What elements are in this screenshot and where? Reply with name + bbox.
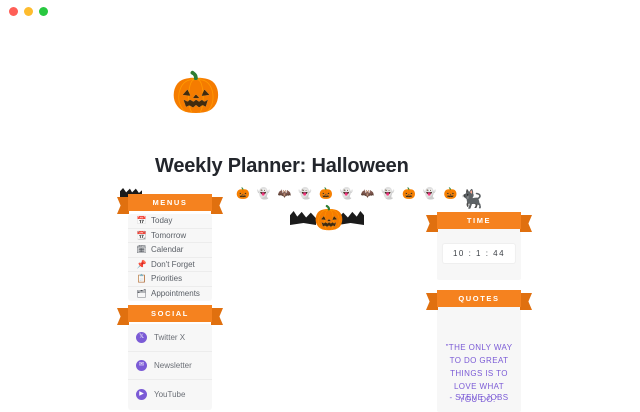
time-banner-wrap: TIME [437, 212, 521, 229]
window-zoom-button[interactable] [39, 7, 48, 16]
clipboard-icon: 📋 [136, 273, 147, 284]
center-decoration: 🎃 [290, 205, 364, 239]
social-item-twitter[interactable]: 𝕏 Twitter X [128, 324, 212, 352]
menu-item-tomorrow[interactable]: 📆 Tomorrow [128, 229, 212, 244]
time-value: 10 : 1 : 44 [443, 244, 515, 263]
social-item-label: Twitter X [154, 333, 185, 342]
social-item-label: Newsletter [154, 361, 192, 370]
calendar-next-icon: 📆 [136, 230, 147, 241]
social-list: 𝕏 Twitter X ✉ Newsletter ▶ YouTube [128, 324, 212, 408]
social-banner-label: SOCIAL [128, 305, 212, 322]
menu-item-calendar[interactable]: 🗓 Calendar [128, 243, 212, 258]
halloween-emoji-divider: 🎃 👻 🦇 👻 🎃 👻 🦇 👻 🎃 👻 🎃 [236, 187, 459, 200]
menus-banner-label: MENUS [128, 194, 212, 211]
menu-item-priorities[interactable]: 📋 Priorities [128, 272, 212, 287]
twitter-x-icon: 𝕏 [136, 332, 147, 343]
social-item-label: YouTube [154, 390, 185, 399]
window-minimize-button[interactable] [24, 7, 33, 16]
quotes-banner-label: QUOTES [437, 290, 521, 307]
window-titlebar [0, 0, 640, 22]
quotes-banner-wrap: QUOTES [437, 290, 521, 307]
menus-banner-wrap: MENUS [128, 194, 212, 211]
quotes-card: "THE ONLY WAY TO DO GREAT THINGS IS TO L… [437, 307, 521, 412]
window-close-button[interactable] [9, 7, 18, 16]
social-banner-wrap: SOCIAL [128, 305, 212, 322]
planner-page: 🎃 Weekly Planner: Halloween 🎃 👻 🦇 👻 🎃 👻 … [0, 22, 640, 400]
menu-item-label: Don't Forget [151, 260, 195, 269]
time-card: 10 : 1 : 44 [437, 228, 521, 280]
menu-item-label: Priorities [151, 274, 182, 283]
bat-wing-left-icon [290, 211, 316, 225]
menu-item-label: Tomorrow [151, 231, 186, 240]
menu-item-appointments[interactable]: 🗂 Appointments [128, 287, 212, 302]
menu-item-dont-forget[interactable]: 📌 Don't Forget [128, 258, 212, 273]
black-cat-icon: 🐈‍⬛ [460, 189, 482, 209]
quote-author: - STEVE JOBS [445, 393, 513, 402]
calendar-month-icon: 🗓 [136, 244, 147, 255]
page-title: Weekly Planner: Halloween [155, 155, 409, 178]
menu-item-label: Today [151, 216, 172, 225]
menu-item-label: Calendar [151, 245, 183, 254]
menu-item-label: Appointments [151, 289, 200, 298]
envelope-icon: ✉ [136, 360, 147, 371]
folder-icon: 🗂 [136, 288, 147, 299]
time-banner-label: TIME [437, 212, 521, 229]
pumpkin-icon: 🎃 [171, 70, 217, 116]
menus-list: 📅 Today 📆 Tomorrow 🗓 Calendar 📌 Don't Fo… [128, 214, 212, 301]
play-icon: ▶ [136, 389, 147, 400]
social-card: 𝕏 Twitter X ✉ Newsletter ▶ YouTube [128, 324, 212, 410]
menus-card: 📅 Today 📆 Tomorrow 🗓 Calendar 📌 Don't Fo… [128, 214, 212, 301]
menu-item-today[interactable]: 📅 Today [128, 214, 212, 229]
social-item-newsletter[interactable]: ✉ Newsletter [128, 352, 212, 380]
social-item-youtube[interactable]: ▶ YouTube [128, 380, 212, 408]
calendar-icon: 📅 [136, 215, 147, 226]
center-pumpkin-icon: 🎃 [314, 205, 342, 233]
pin-icon: 📌 [136, 259, 147, 270]
